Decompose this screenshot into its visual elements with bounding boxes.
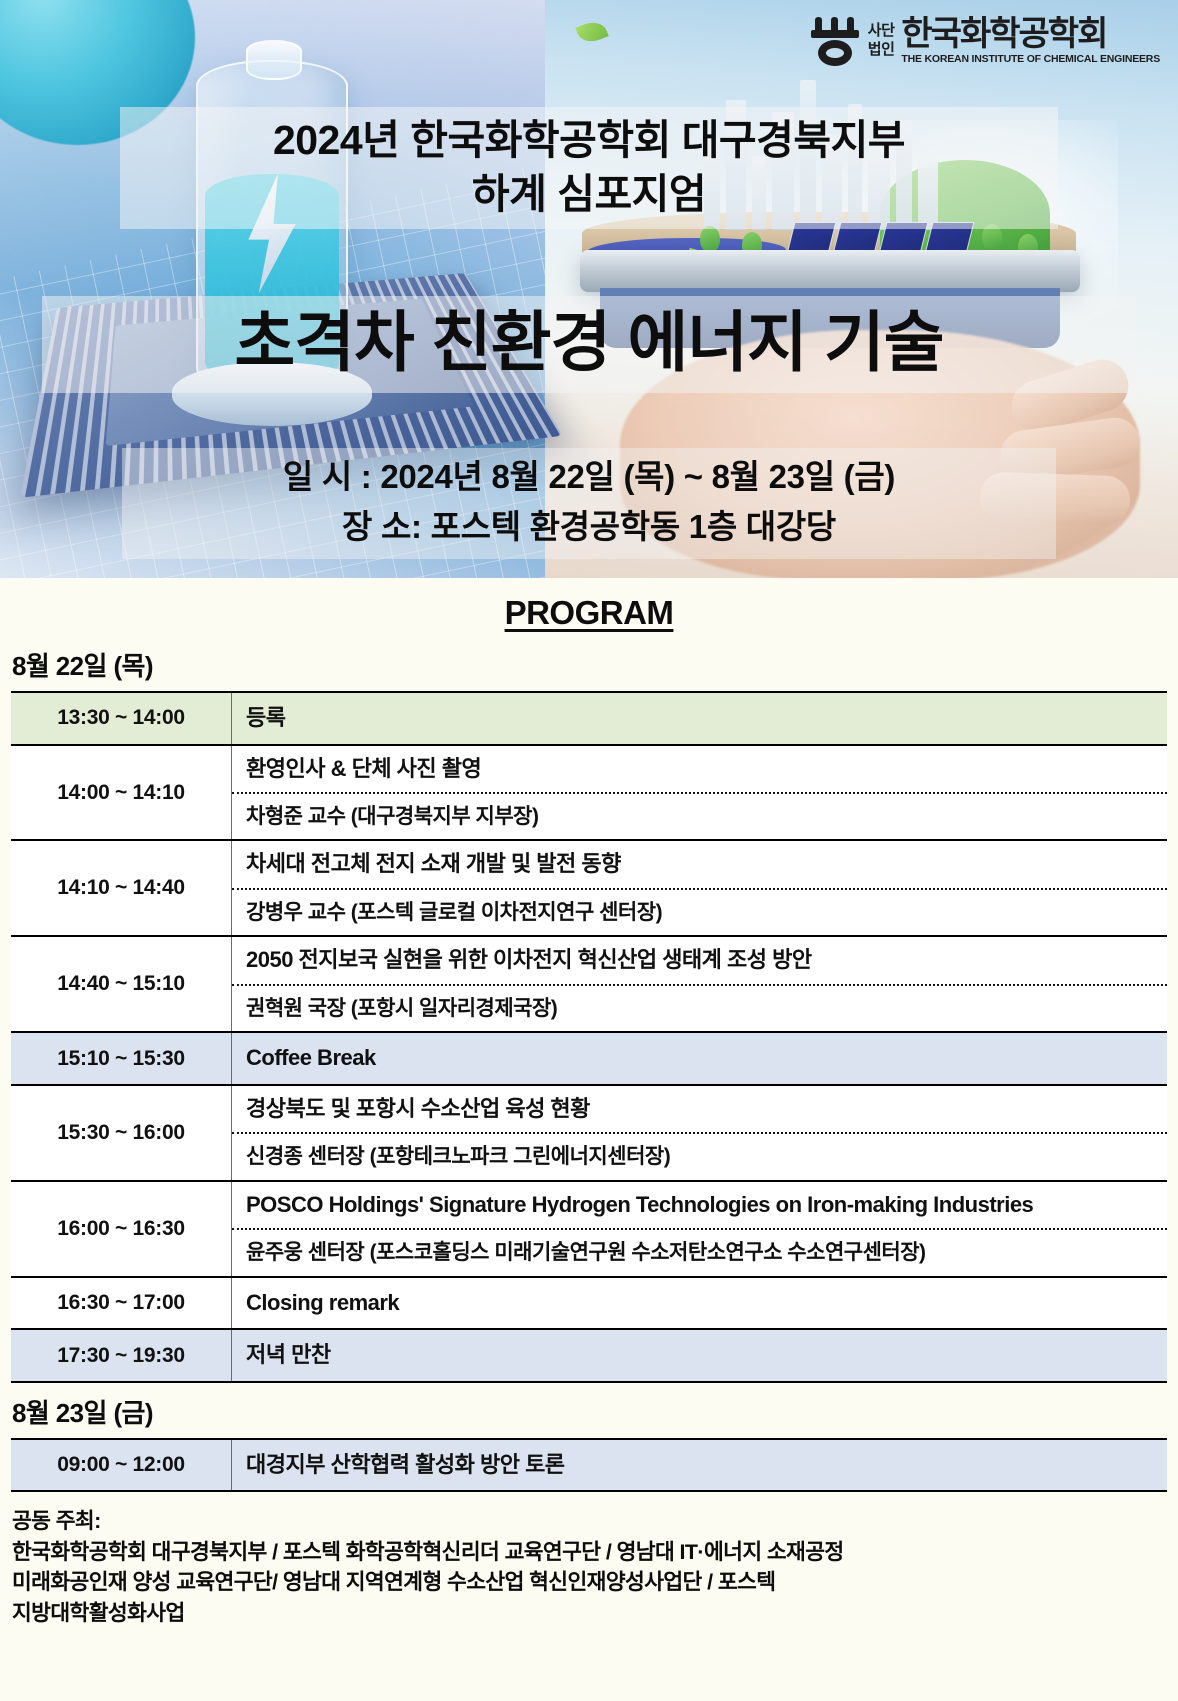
row-speaker: 신경종 센터장 (포항테크노파크 그린에너지센터장) [232, 1132, 1167, 1179]
table-row: 15:10 ~ 15:30 Coffee Break [11, 1032, 1167, 1085]
row-title: POSCO Holdings' Signature Hydrogen Techn… [232, 1182, 1167, 1229]
table-row: 13:30 ~ 14:00 등록 [11, 692, 1167, 745]
row-detail: 경상북도 및 포항시 수소산업 육성 현황 신경종 센터장 (포항테크노파크 그… [232, 1085, 1168, 1181]
battery-cap [246, 40, 302, 80]
row-detail: Coffee Break [232, 1032, 1168, 1085]
eco-platform [580, 250, 1080, 292]
schedule-table-day1: 13:30 ~ 14:00 등록 14:00 ~ 14:10 환영인사 & 단체… [11, 691, 1167, 1383]
table-row: 14:10 ~ 14:40 차세대 전고체 전지 소재 개발 및 발전 동향 강… [11, 840, 1167, 936]
cohost-header: 공동 주최: [12, 1506, 1178, 1537]
cohost-line-3: 지방대학활성화사업 [12, 1598, 1178, 1629]
event-venue: 장 소: 포스텍 환경공학동 1층 대강당 [122, 502, 1056, 552]
row-detail: 차세대 전고체 전지 소재 개발 및 발전 동향 강병우 교수 (포스텍 글로컬… [232, 840, 1168, 936]
row-time: 14:40 ~ 15:10 [11, 936, 232, 1032]
kiche-logo: 사단 법인 한국화학공학회 THE KOREAN INSTITUTE OF CH… [809, 14, 1160, 68]
row-title: 대경지부 산학협력 활성화 방안 토론 [232, 1440, 1167, 1491]
row-title: 2050 전지보국 실현을 위한 이차전지 혁신산업 생태계 조성 방안 [232, 937, 1167, 984]
row-speaker: 차형준 교수 (대구경북지부 지부장) [232, 792, 1167, 839]
row-title: 차세대 전고체 전지 소재 개발 및 발전 동향 [232, 841, 1167, 888]
event-info: 일 시 : 2024년 8월 22일 (목) ~ 8월 23일 (금) 장 소:… [122, 448, 1056, 559]
row-detail: 대경지부 산학협력 활성화 방안 토론 [232, 1439, 1168, 1492]
event-title-line1: 2024년 한국화학공학회 대구경북지부 [120, 113, 1058, 167]
table-row: 16:00 ~ 16:30 POSCO Holdings' Signature … [11, 1181, 1167, 1277]
event-subject: 초격차 친환경 에너지 기술 [42, 296, 1136, 393]
logo-sadan-line1: 사단 [868, 22, 895, 41]
tree [700, 226, 720, 252]
cohost-line-2: 미래화공인재 양성 교육연구단/ 영남대 지역연계형 수소산업 혁신인재양성사업… [12, 1567, 1178, 1598]
row-time: 13:30 ~ 14:00 [11, 692, 232, 745]
cohost-section: 공동 주최: 한국화학공학회 대구경북지부 / 포스텍 화학공학혁신리더 교육연… [0, 1492, 1178, 1628]
table-row: 14:40 ~ 15:10 2050 전지보국 실현을 위한 이차전지 혁신산업… [11, 936, 1167, 1032]
row-title: Closing remark [232, 1278, 1167, 1329]
day-heading-1: 8월 22일 (목) [0, 636, 1178, 691]
row-title: 경상북도 및 포항시 수소산업 육성 현황 [232, 1086, 1167, 1133]
event-datetime: 일 시 : 2024년 8월 22일 (목) ~ 8월 23일 (금) [122, 452, 1056, 502]
row-title: 등록 [232, 693, 1167, 744]
symposium-poster: 사단 법인 한국화학공학회 THE KOREAN INSTITUTE OF CH… [0, 0, 1178, 1701]
row-time: 15:30 ~ 16:00 [11, 1085, 232, 1181]
logo-english-name: THE KOREAN INSTITUTE OF CHEMICAL ENGINEE… [901, 53, 1160, 65]
logo-names: 한국화학공학회 THE KOREAN INSTITUTE OF CHEMICAL… [901, 17, 1160, 65]
table-row: 16:30 ~ 17:00 Closing remark [11, 1277, 1167, 1330]
table-row: 17:30 ~ 19:30 저녁 만찬 [11, 1329, 1167, 1382]
schedule-table-day2: 09:00 ~ 12:00 대경지부 산학협력 활성화 방안 토론 [11, 1438, 1167, 1493]
row-title: 저녁 만찬 [232, 1330, 1167, 1381]
row-time: 14:10 ~ 14:40 [11, 840, 232, 936]
kiche-emblem-icon [809, 14, 861, 68]
event-title-line2: 하계 심포지엄 [120, 167, 1058, 221]
event-title: 2024년 한국화학공학회 대구경북지부 하계 심포지엄 [120, 107, 1058, 229]
row-time: 14:00 ~ 14:10 [11, 745, 232, 841]
table-row: 14:00 ~ 14:10 환영인사 & 단체 사진 촬영 차형준 교수 (대구… [11, 745, 1167, 841]
row-speaker: 강병우 교수 (포스텍 글로컬 이차전지연구 센터장) [232, 888, 1167, 935]
logo-sadan-line2: 법인 [868, 41, 895, 60]
row-speaker: 권혁원 국장 (포항시 일자리경제국장) [232, 984, 1167, 1031]
row-time: 16:00 ~ 16:30 [11, 1181, 232, 1277]
row-detail: Closing remark [232, 1277, 1168, 1330]
row-detail: 등록 [232, 692, 1168, 745]
row-detail: 저녁 만찬 [232, 1329, 1168, 1382]
row-detail: 2050 전지보국 실현을 위한 이차전지 혁신산업 생태계 조성 방안 권혁원… [232, 936, 1168, 1032]
row-detail: POSCO Holdings' Signature Hydrogen Techn… [232, 1181, 1168, 1277]
row-time: 09:00 ~ 12:00 [11, 1439, 232, 1492]
day-heading-2: 8월 23일 (금) [0, 1383, 1178, 1438]
cohost-line-1: 한국화학공학회 대구경북지부 / 포스텍 화학공학혁신리더 교육연구단 / 영남… [12, 1537, 1178, 1568]
hero-banner: 사단 법인 한국화학공학회 THE KOREAN INSTITUTE OF CH… [0, 0, 1178, 578]
row-title: 환영인사 & 단체 사진 촬영 [232, 746, 1167, 793]
logo-corporation-mark: 사단 법인 [868, 22, 895, 60]
logo-korean-name: 한국화학공학회 [901, 17, 1160, 51]
row-time: 16:30 ~ 17:00 [11, 1277, 232, 1330]
row-time: 17:30 ~ 19:30 [11, 1329, 232, 1382]
row-title: Coffee Break [232, 1033, 1167, 1084]
row-time: 15:10 ~ 15:30 [11, 1032, 232, 1085]
program-body: PROGRAM 8월 22일 (목) 13:30 ~ 14:00 등록 14:0… [0, 578, 1178, 1701]
program-heading: PROGRAM [0, 578, 1178, 636]
table-row: 15:30 ~ 16:00 경상북도 및 포항시 수소산업 육성 현황 신경종 … [11, 1085, 1167, 1181]
row-speaker: 윤주웅 센터장 (포스코홀딩스 미래기술연구원 수소저탄소연구소 수소연구센터장… [232, 1228, 1167, 1275]
row-detail: 환영인사 & 단체 사진 촬영 차형준 교수 (대구경북지부 지부장) [232, 745, 1168, 841]
table-row: 09:00 ~ 12:00 대경지부 산학협력 활성화 방안 토론 [11, 1439, 1167, 1492]
